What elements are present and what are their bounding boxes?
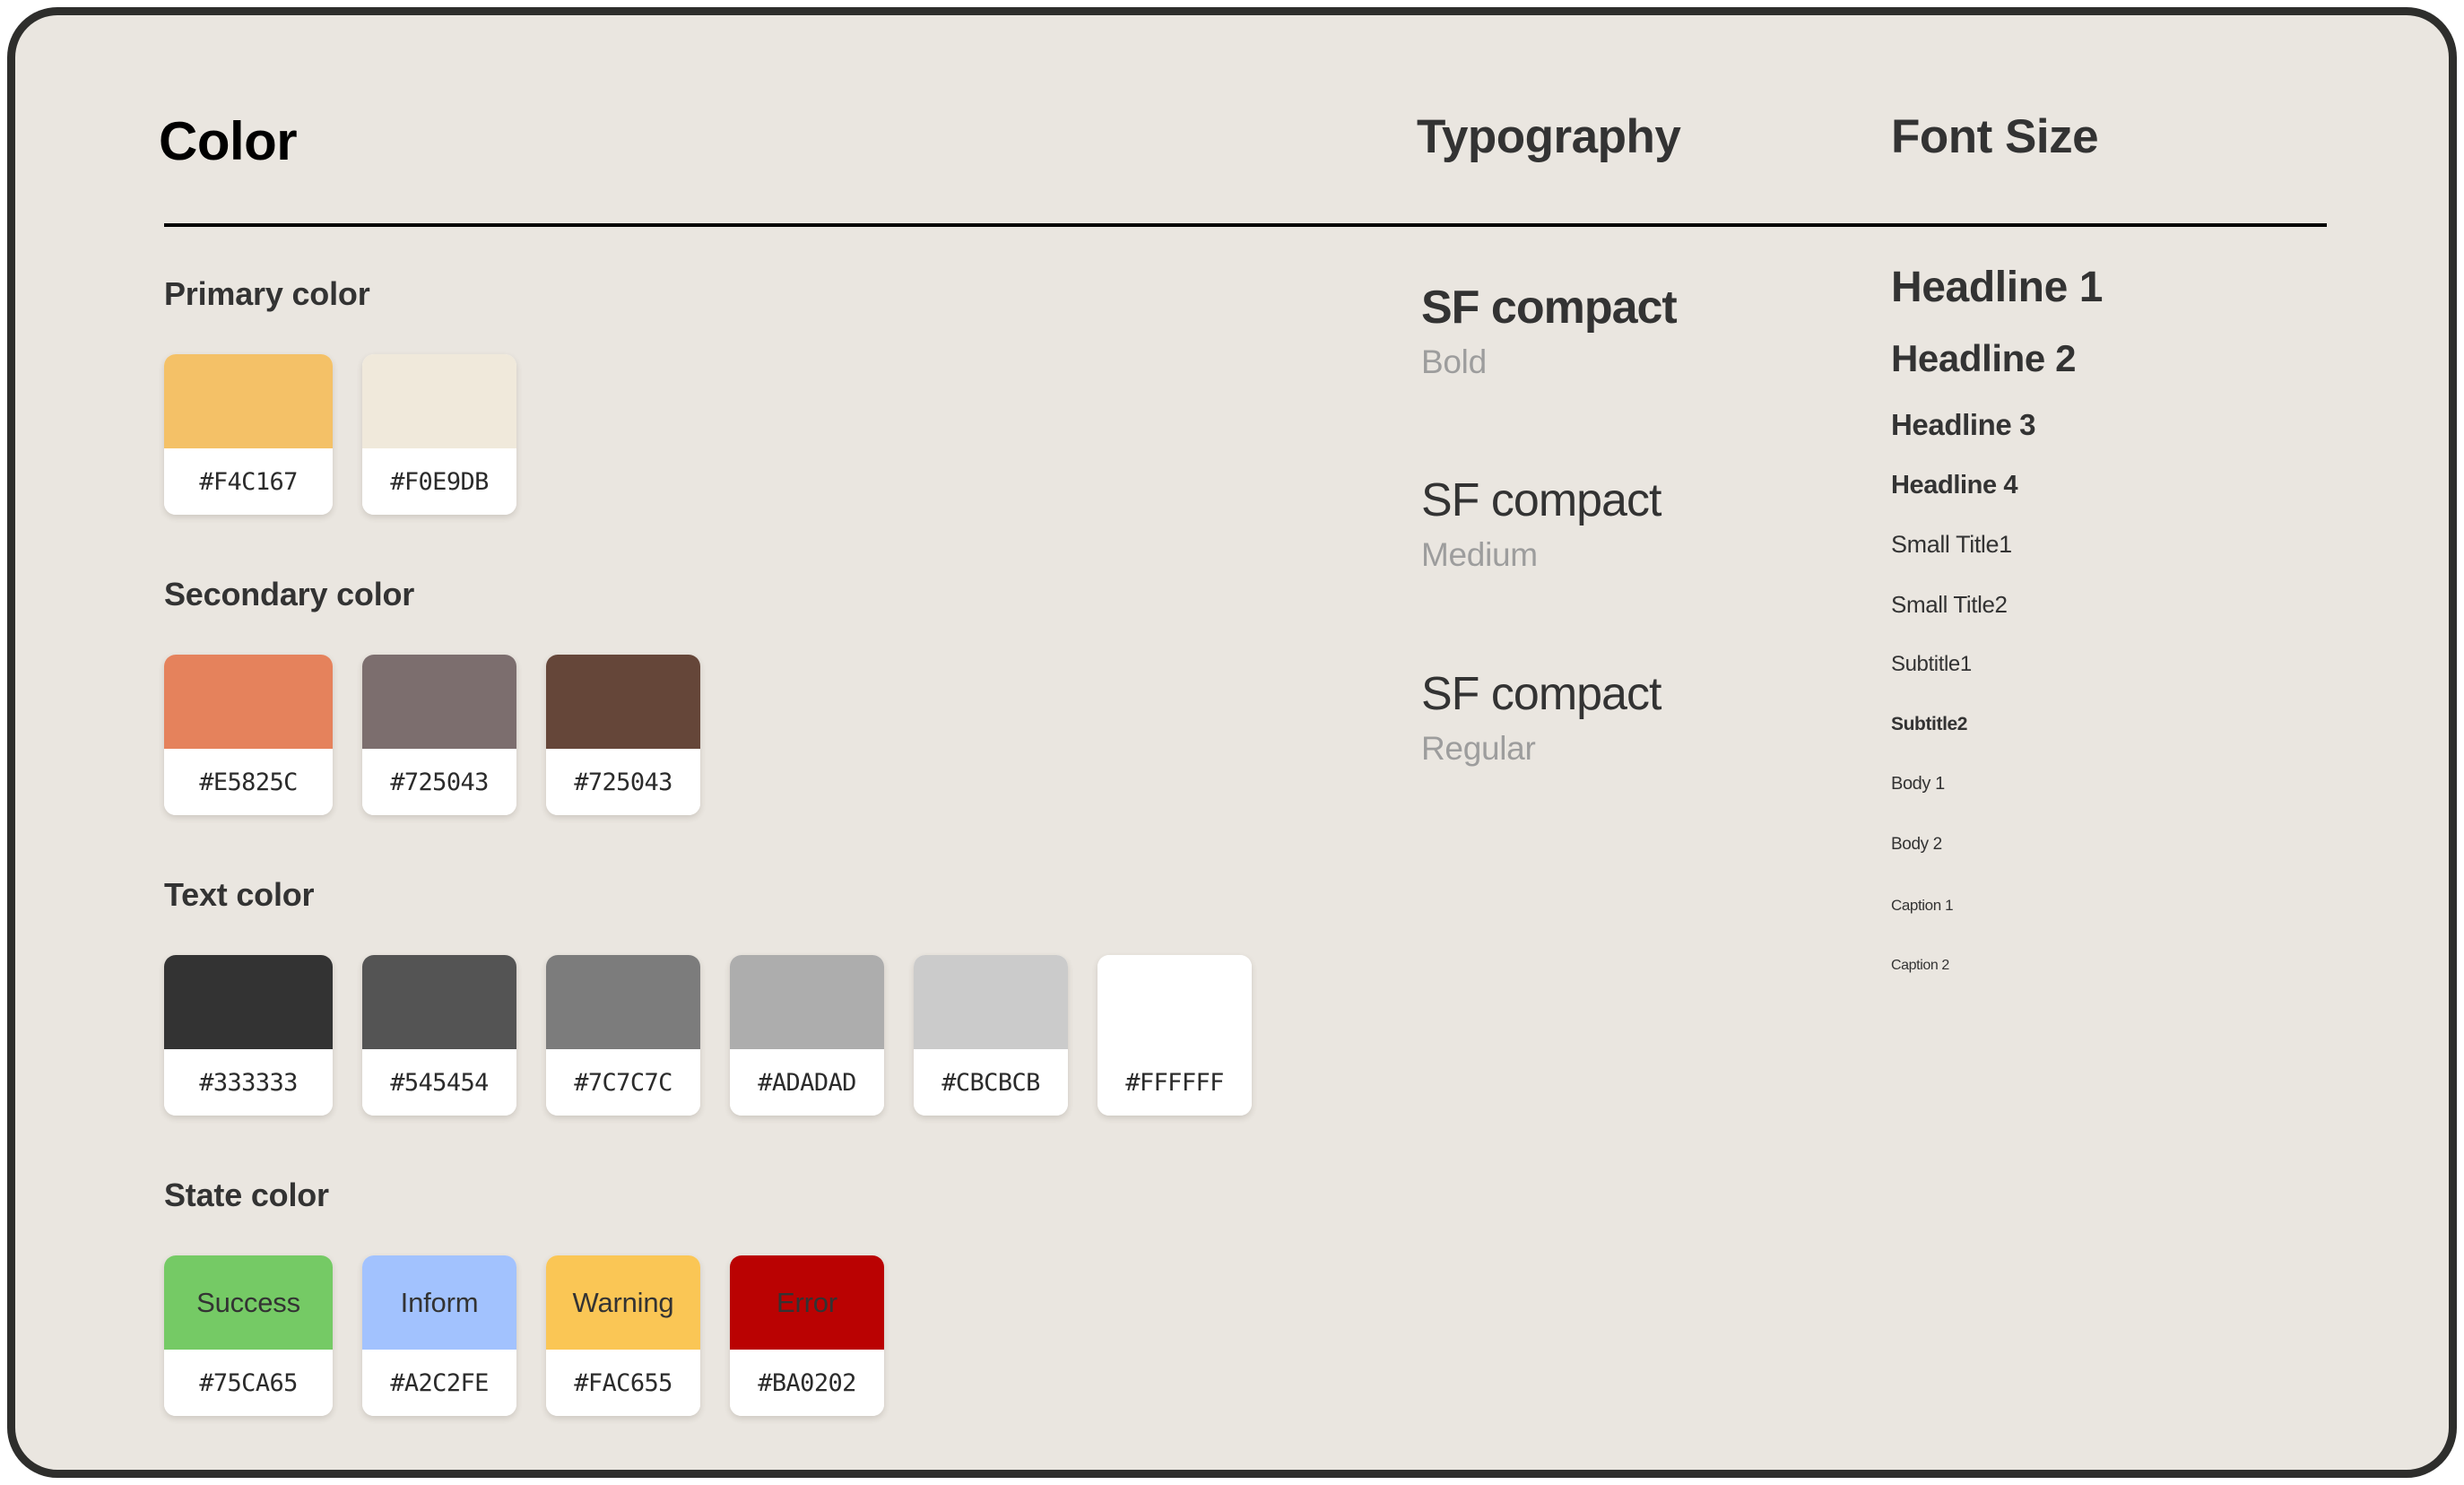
color-section-label-secondary-color: Secondary color (164, 576, 414, 613)
header-divider (164, 223, 2327, 227)
color-section-label-text-color: Text color (164, 876, 314, 914)
color-swatch-7c7c7c[interactable]: #7C7C7C (546, 955, 700, 1116)
page-title-typography: Typography (1417, 109, 1680, 164)
swatch-color-block (164, 354, 333, 448)
swatch-color-block (164, 955, 333, 1049)
font-size-item-headline-2: Headline 2 (1891, 340, 2357, 378)
font-size-item-body-2: Body 2 (1891, 836, 2357, 853)
swatch-hex-value: #7C7C7C (574, 1069, 672, 1097)
color-swatch-75ca65[interactable]: Success#75CA65 (164, 1255, 333, 1416)
swatch-hex-value: #725043 (390, 769, 489, 796)
font-size-item-small-title2: Small Title2 (1891, 593, 2357, 616)
font-size-item-headline-1: Headline 1 (1891, 266, 2357, 309)
swatch-hex-row: #FAC655 (546, 1350, 700, 1416)
typography-sample-regular: SF compactRegular (1421, 671, 1661, 765)
font-size-column: Headline 1Headline 2Headline 3Headline 4… (1891, 266, 2357, 973)
swatch-hex-row: #333333 (164, 1049, 333, 1116)
swatch-hex-row: #FFFFFF (1098, 1049, 1252, 1116)
swatch-color-block (362, 354, 516, 448)
color-swatch-725043[interactable]: #725043 (362, 655, 516, 815)
swatch-hex-value: #BA0202 (758, 1369, 856, 1397)
swatch-hex-row: #7C7C7C (546, 1049, 700, 1116)
font-size-item-caption-2: Caption 2 (1891, 959, 2357, 973)
swatch-state-label: Warning (573, 1287, 674, 1319)
swatch-hex-value: #F4C167 (199, 468, 298, 496)
color-swatch-545454[interactable]: #545454 (362, 955, 516, 1116)
typography-weight-label: Medium (1421, 538, 1661, 571)
swatch-hex-value: #FFFFFF (1125, 1069, 1224, 1097)
color-swatch-f0e9db[interactable]: #F0E9DB (362, 354, 516, 515)
typography-family-name: SF compact (1421, 284, 1677, 331)
typography-weight-label: Bold (1421, 345, 1677, 378)
swatch-hex-value: #725043 (574, 769, 672, 796)
swatch-color-block: Success (164, 1255, 333, 1350)
swatch-hex-value: #F0E9DB (390, 468, 489, 496)
swatch-hex-value: #FAC655 (574, 1369, 672, 1397)
swatch-hex-row: #725043 (362, 749, 516, 815)
swatch-row-primary-color: #F4C167#F0E9DB (164, 354, 546, 515)
font-size-item-small-title1: Small Title1 (1891, 533, 2357, 557)
swatch-hex-row: #545454 (362, 1049, 516, 1116)
swatch-hex-value: #333333 (199, 1069, 298, 1097)
color-swatch-f4c167[interactable]: #F4C167 (164, 354, 333, 515)
swatch-hex-row: #CBCBCB (914, 1049, 1068, 1116)
swatch-row-secondary-color: #E5825C#725043#725043 (164, 655, 730, 815)
swatch-color-block (730, 955, 884, 1049)
swatch-state-label: Error (777, 1287, 837, 1319)
swatch-hex-value: #CBCBCB (941, 1069, 1040, 1097)
color-section-label-state-color: State color (164, 1177, 329, 1214)
color-section-label-primary-color: Primary color (164, 275, 370, 313)
swatch-color-block (164, 655, 333, 749)
color-swatch-fac655[interactable]: Warning#FAC655 (546, 1255, 700, 1416)
swatch-color-block (1098, 955, 1252, 1049)
swatch-state-label: Inform (401, 1287, 479, 1319)
swatch-hex-row: #ADADAD (730, 1049, 884, 1116)
color-swatch-cbcbcb[interactable]: #CBCBCB (914, 955, 1068, 1116)
typography-family-name: SF compact (1421, 477, 1661, 524)
swatch-hex-row: #F0E9DB (362, 448, 516, 515)
color-swatch-a2c2fe[interactable]: Inform#A2C2FE (362, 1255, 516, 1416)
swatch-hex-row: #BA0202 (730, 1350, 884, 1416)
color-swatch-e5825c[interactable]: #E5825C (164, 655, 333, 815)
font-size-item-subtitle1: Subtitle1 (1891, 654, 2357, 675)
swatch-hex-value: #75CA65 (199, 1369, 298, 1397)
color-swatch-333333[interactable]: #333333 (164, 955, 333, 1116)
typography-weight-label: Regular (1421, 732, 1661, 765)
swatch-hex-value: #A2C2FE (390, 1369, 489, 1397)
swatch-row-state-color: Success#75CA65Inform#A2C2FEWarning#FAC65… (164, 1255, 914, 1416)
swatch-color-block (914, 955, 1068, 1049)
swatch-color-block: Warning (546, 1255, 700, 1350)
swatch-hex-value: #E5825C (199, 769, 298, 796)
artboard-frame: Color Typography Font Size Primary color… (7, 7, 2457, 1478)
font-size-item-subtitle2: Subtitle2 (1891, 715, 2357, 734)
typography-sample-medium: SF compactMedium (1421, 477, 1661, 571)
swatch-color-block (546, 655, 700, 749)
page-title-font-size: Font Size (1891, 109, 2098, 164)
swatch-row-text-color: #333333#545454#7C7C7C#ADADAD#CBCBCB#FFFF… (164, 955, 1281, 1116)
font-size-item-headline-4: Headline 4 (1891, 473, 2357, 499)
swatch-hex-row: #E5825C (164, 749, 333, 815)
swatch-hex-row: #A2C2FE (362, 1350, 516, 1416)
color-swatch-ffffff[interactable]: #FFFFFF (1098, 955, 1252, 1116)
swatch-hex-value: #ADADAD (758, 1069, 856, 1097)
page-title-color: Color (159, 110, 297, 172)
color-swatch-ba0202[interactable]: Error#BA0202 (730, 1255, 884, 1416)
font-size-item-headline-3: Headline 3 (1891, 410, 2357, 439)
typography-sample-bold: SF compactBold (1421, 284, 1677, 378)
font-size-item-body-1: Body 1 (1891, 775, 2357, 793)
swatch-hex-row: #75CA65 (164, 1350, 333, 1416)
font-size-item-caption-1: Caption 1 (1891, 898, 2357, 913)
swatch-color-block (362, 955, 516, 1049)
color-swatch-adadad[interactable]: #ADADAD (730, 955, 884, 1116)
typography-family-name: SF compact (1421, 671, 1661, 717)
swatch-color-block: Inform (362, 1255, 516, 1350)
swatch-hex-row: #725043 (546, 749, 700, 815)
color-swatch-725043[interactable]: #725043 (546, 655, 700, 815)
swatch-color-block (546, 955, 700, 1049)
swatch-hex-value: #545454 (390, 1069, 489, 1097)
swatch-hex-row: #F4C167 (164, 448, 333, 515)
swatch-color-block: Error (730, 1255, 884, 1350)
swatch-color-block (362, 655, 516, 749)
design-system-canvas: Color Typography Font Size Primary color… (15, 15, 2449, 1470)
swatch-state-label: Success (196, 1287, 300, 1319)
